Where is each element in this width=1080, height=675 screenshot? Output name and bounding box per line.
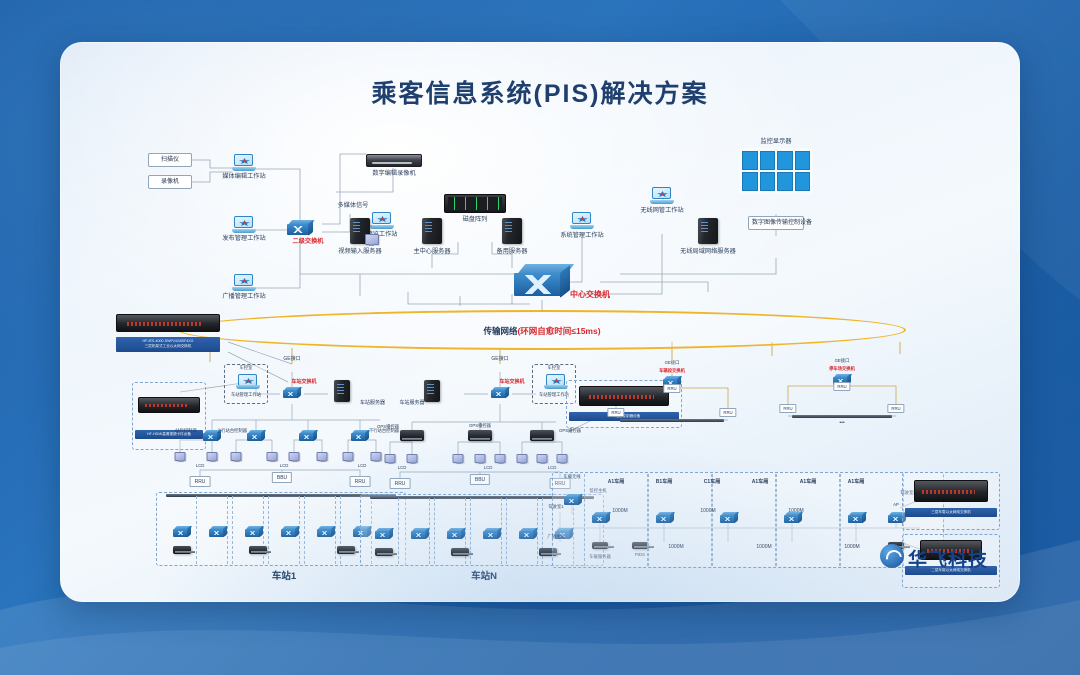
station1-platform-switch <box>245 526 259 535</box>
stationN-lcd <box>385 454 396 463</box>
center-switch-label: 中心交换机 <box>570 290 610 300</box>
stationN-lcd-label: LCD <box>548 465 557 470</box>
stationN-lcd <box>557 454 568 463</box>
train-ap-label: AP <box>893 502 899 507</box>
station1-pids-device <box>173 546 191 554</box>
station1-platform-switch <box>317 526 331 535</box>
wlan-server-label: 无线局域网络服务器 <box>680 248 736 256</box>
stationN-name: 车站N <box>471 571 497 583</box>
stationN-ge-port-label: GE接口 <box>491 356 508 362</box>
stationN-platform-switch <box>447 528 461 537</box>
station1-lcd <box>207 452 218 461</box>
station1-rru-left: RRU <box>190 476 211 487</box>
ies4000-device-icon <box>116 314 220 332</box>
station1-up-platform-ctrl-icon <box>247 430 265 441</box>
main-center-server-label: 主中心服务器 <box>413 248 450 256</box>
stationN-bbu: BBU <box>470 474 490 485</box>
disk-array-icon <box>444 194 506 213</box>
parking-ellipsis: ••• <box>839 420 844 426</box>
publish-workstation-label: 发布管理工作站 <box>222 235 265 243</box>
station1-lcd <box>317 452 328 461</box>
parking-track-bar <box>792 415 892 418</box>
stationN-platform-switch <box>519 528 533 537</box>
train-car-label-3: A1车厢 <box>752 479 768 485</box>
stationN-lcd <box>475 454 486 463</box>
l3-switch-device-icon <box>914 480 988 502</box>
secondary-switch-icon <box>287 220 313 235</box>
station1-name: 车站1 <box>272 571 296 583</box>
stationN-platform-switch <box>375 528 389 537</box>
stationN-lcd <box>407 454 418 463</box>
publish-workstation-icon <box>232 216 256 233</box>
station1-server-icon <box>334 380 350 402</box>
logo-mark-icon <box>880 544 904 568</box>
hdmi-card-group <box>132 382 206 450</box>
stationN-ops-ctrl-label: OPS播控器 <box>559 428 581 433</box>
train-speed-label: 1000M <box>700 508 715 514</box>
wireless-net-workstation-label: 无线网管工作站 <box>640 207 683 215</box>
video-input-monitor-icon <box>365 234 379 245</box>
train-car-switch <box>848 512 864 522</box>
stationN-lcd <box>537 454 548 463</box>
recorder-box: 录像机 <box>148 175 192 189</box>
ring-red-text: (环网自愈时间≤15ms) <box>517 326 600 336</box>
station1-mgmt-workstation-icon <box>236 374 256 389</box>
broadcast-workstation-label: 广播管理工作站 <box>222 293 265 301</box>
station1-lcd <box>267 452 278 461</box>
wireless-net-workstation-icon <box>650 187 674 204</box>
stationN-ops-ctrl-label: OPS播控器 <box>377 424 399 429</box>
backup-server-icon <box>502 218 522 244</box>
broadcast-host-label: 广播主机 <box>547 534 564 539</box>
stationN-ops-ctrl-2 <box>468 430 492 441</box>
station1-pids-device <box>337 546 355 554</box>
stationN-pids-device <box>451 548 469 556</box>
ring-main-text: 传输网络 <box>483 326 517 336</box>
station1-platform-switch <box>209 526 223 535</box>
depot-rru-right: RRU <box>719 408 736 417</box>
stationN-control-room-label: 车控室 <box>548 365 561 370</box>
station1-bbu: BBU <box>272 472 292 483</box>
train-speed-label: 1000M <box>668 544 683 550</box>
station1-lcd-label: LCD <box>196 463 205 468</box>
station1-lcd-label: LCD <box>358 463 367 468</box>
station1-ge-port-label: GE接口 <box>283 356 300 362</box>
onboard-wireless-label: 车载无线 <box>563 474 580 479</box>
ies4000-desc: 三层机架式工业以太网交换机 <box>120 344 216 349</box>
stationN-mgmt-workstation-icon <box>544 374 564 389</box>
train-car-switch <box>656 512 672 522</box>
hdmi-card-device-icon <box>138 397 200 413</box>
station1-switch-icon <box>283 387 301 398</box>
station1-up-platform-ctrl-label: 上行站台控制器 <box>217 428 247 433</box>
station1-lcd <box>231 452 242 461</box>
stationN-ops-ctrl-1 <box>400 430 424 441</box>
station1-ctrl-3-icon <box>299 430 317 441</box>
center-switch-icon <box>514 264 570 296</box>
station1-mgmt-workstation-label: 车站管理工作站 <box>231 392 261 397</box>
stationN-lcd <box>517 454 528 463</box>
monitoring-wall-icon <box>739 148 813 194</box>
train-car-label-2: C1车厢 <box>704 479 720 485</box>
wlan-server-icon <box>698 218 718 244</box>
station1-hall-ctrl-label: 站厅控制器 <box>175 428 196 433</box>
station1-platform-switch <box>281 526 295 535</box>
depot-rru-left: RRU <box>607 408 624 417</box>
stationN-switch-label: 车站交换机 <box>499 379 524 385</box>
system-mgmt-workstation-icon <box>570 212 594 229</box>
l3-switch-caption: 三层车载以太网络交换机 <box>905 508 997 517</box>
brand-logo: 华飞科技 HUAFEI TECHNOLOGY <box>880 542 990 572</box>
depot-track-bar <box>620 419 724 422</box>
train-car-switch <box>592 512 608 522</box>
train-car-label-4: A1车厢 <box>800 479 816 485</box>
digital-edit-recorder-label: 数字编辑录像机 <box>372 170 415 178</box>
stationN-platform-switch <box>411 528 425 537</box>
ies4000-product-caption: HF-IES-4000-SWP24G8SF4XG 三层机架式工业以太网交换机 <box>116 337 220 352</box>
preview-workstation-icon <box>370 212 394 229</box>
station1-lcd <box>371 452 382 461</box>
stationN-switch-icon <box>491 387 509 398</box>
disk-array-label: 磁盘阵列 <box>463 216 488 224</box>
station1-control-room-label: 车控室 <box>240 365 253 370</box>
broadcast-workstation-icon <box>232 274 256 291</box>
depot-rru-center: RRU <box>663 384 680 393</box>
main-center-server-icon <box>422 218 442 244</box>
station1-switch-label: 车站交换机 <box>291 379 316 385</box>
stationN-platform-switch <box>483 528 497 537</box>
depot-switch-label: 车辆段交换机 <box>659 368 685 373</box>
backup-server-label: 备用服务器 <box>497 248 528 256</box>
parking-rru-center: RRU <box>833 382 850 391</box>
monitoring-wall-label: 监控显示器 <box>761 138 792 146</box>
parking-rru-right: RRU <box>887 404 904 413</box>
station1-server-label: 车站服务器 <box>360 400 385 406</box>
parking-switch-label: 停车场交换机 <box>829 366 855 371</box>
video-input-server-label: 视频输入服务器 <box>338 248 381 256</box>
station1-down-platform-ctrl-icon <box>351 430 369 441</box>
onboard-wireless-ap <box>564 494 580 504</box>
diagram-card: 乘客信息系统(PIS)解决方案 <box>60 42 1020 602</box>
train-car-label-1: B1车厢 <box>656 479 672 485</box>
train-speed-label: 1000M <box>612 508 627 514</box>
depot-ge-port-label: GE接口 <box>665 360 680 365</box>
train-car-switch <box>784 512 800 522</box>
image-ctrl-equipment-box: 数字图像传输控制设备 <box>748 216 804 230</box>
cab1-label: 驾驶室1 <box>548 504 563 509</box>
parking-rru-left: RRU <box>779 404 796 413</box>
stationN-ops-ctrl-label: OPS播控器 <box>469 423 491 428</box>
train-speed-label: 1000M <box>844 544 859 550</box>
stationN-pids-device <box>375 548 393 556</box>
station1-lcd <box>289 452 300 461</box>
digital-edit-recorder-icon <box>366 154 422 167</box>
stationN-rru-left: RRU <box>390 478 411 489</box>
station1-lcd <box>343 452 354 461</box>
station1-lcd <box>175 452 186 461</box>
train-speed-label: 1000M <box>756 544 771 550</box>
station1-lcd-label: LCD <box>280 463 289 468</box>
scanner-box: 扫描仪 <box>148 153 192 167</box>
stationN-server-icon <box>424 380 440 402</box>
transmission-ring-label: 传输网络(环网自愈时间≤15ms) <box>483 325 600 337</box>
logo-name-en: HUAFEI TECHNOLOGY <box>909 566 958 570</box>
media-edit-workstation-icon <box>232 154 256 171</box>
parking-ge-port-label: GE接口 <box>835 358 850 363</box>
station1-platform-switch <box>173 526 187 535</box>
stationN-lcd <box>495 454 506 463</box>
station1-rru-right: RRU <box>350 476 371 487</box>
stationN-mgmt-workstation-label: 车站管理工作站 <box>539 392 569 397</box>
station1-pids-device <box>249 546 267 554</box>
stationN-lcd <box>453 454 464 463</box>
ops-onboard-device-icon <box>579 386 669 406</box>
diagram-stage: 扫描仪 录像机 媒体编辑工作站 发布管理工作站 广播管理工作站 二级交换机 数字… <box>60 42 1020 602</box>
stationN-lcd-label: LCD <box>398 465 407 470</box>
stationN-lcd-label: LCD <box>484 465 493 470</box>
multimedia-signal-label: 多媒体信号 <box>338 202 369 210</box>
train-car-label-0: A1车厢 <box>608 479 624 485</box>
secondary-switch-label: 二级交换机 <box>293 238 324 246</box>
media-edit-workstation-label: 媒体编辑工作站 <box>222 173 265 181</box>
train-car-switch <box>720 512 736 522</box>
stationN-ops-ctrl-3 <box>530 430 554 441</box>
train-car-label-5: A1车厢 <box>848 479 864 485</box>
stationN-server-label: 车站服务器 <box>399 400 424 406</box>
system-mgmt-workstation-label: 系统管理工作站 <box>560 232 603 240</box>
